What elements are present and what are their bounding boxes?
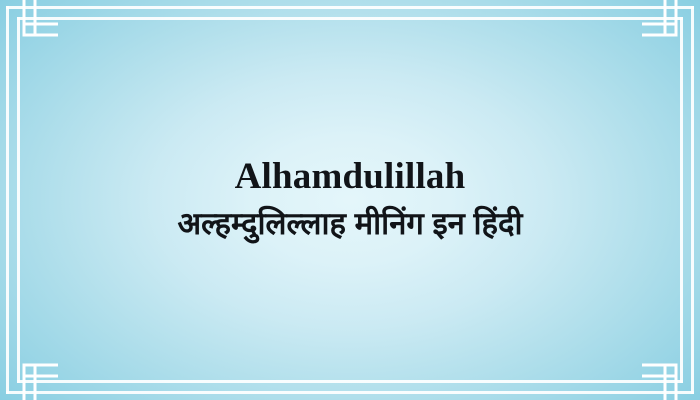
page-title-hindi: अल्हम्दुलिल्लाह मीनिंग इन हिंदी [40, 202, 660, 244]
corner-frame-ornament-icon-top-left [0, 0, 58, 58]
banner-card: Alhamdulillah अल्हम्दुलिल्लाह मीनिंग इन … [0, 0, 700, 400]
border-rule-bottom-inner [17, 380, 683, 383]
border-rule-top-inner [17, 17, 683, 20]
corner-frame-ornament-icon-top-right [642, 0, 700, 58]
page-title-latin: Alhamdulillah [40, 156, 660, 199]
corner-frame-ornament-icon-bottom-right [642, 342, 700, 400]
border-rule-bottom-outer [6, 391, 694, 394]
corner-frame-ornament-icon-bottom-left [0, 342, 58, 400]
heading-block: Alhamdulillah अल्हम्दुलिल्लाह मीनिंग इन … [0, 156, 700, 244]
border-rule-top-outer [6, 6, 694, 9]
